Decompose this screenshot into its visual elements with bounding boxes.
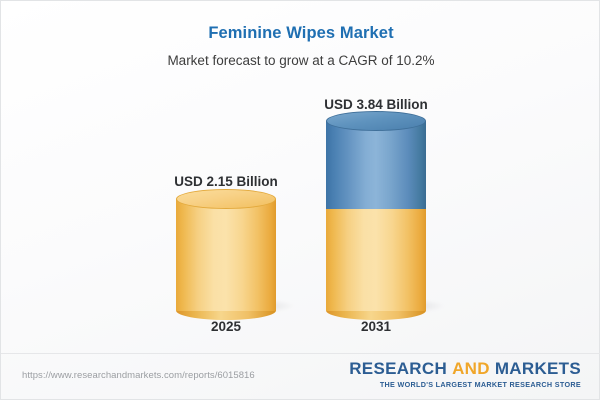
bar-segment-growth-2031	[326, 121, 426, 209]
logo-wordmark: RESEARCH AND MARKETS	[349, 359, 581, 379]
chart-plot-area: USD 2.15 Billion 2025 USD 3.84 Billion	[1, 1, 600, 346]
logo-word-markets: MARKETS	[495, 359, 581, 378]
logo-word-and: AND	[452, 359, 490, 378]
axis-label-2025: 2025	[151, 319, 301, 335]
bar-cylinder-2031	[326, 121, 426, 311]
bar-top-cap-2031	[326, 111, 426, 131]
footer: https://www.researchandmarkets.com/repor…	[1, 353, 600, 400]
bar-body-2025	[176, 199, 276, 311]
brand-logo[interactable]: RESEARCH AND MARKETS THE WORLD'S LARGEST…	[349, 359, 581, 389]
axis-label-2031: 2031	[301, 319, 451, 335]
infographic-canvas: Feminine Wipes Market Market forecast to…	[0, 0, 600, 400]
logo-word-research: RESEARCH	[349, 359, 447, 378]
bar-cylinder-2025	[176, 199, 276, 311]
bar-body-2031	[326, 121, 426, 311]
bar-segment-base-2025	[176, 199, 276, 311]
source-url[interactable]: https://www.researchandmarkets.com/repor…	[22, 370, 255, 382]
bar-segment-base-2031	[326, 209, 426, 311]
bar-top-cap-2025	[176, 189, 276, 209]
logo-tagline: THE WORLD'S LARGEST MARKET RESEARCH STOR…	[349, 380, 581, 389]
bar-value-label-2025: USD 2.15 Billion	[151, 174, 301, 190]
